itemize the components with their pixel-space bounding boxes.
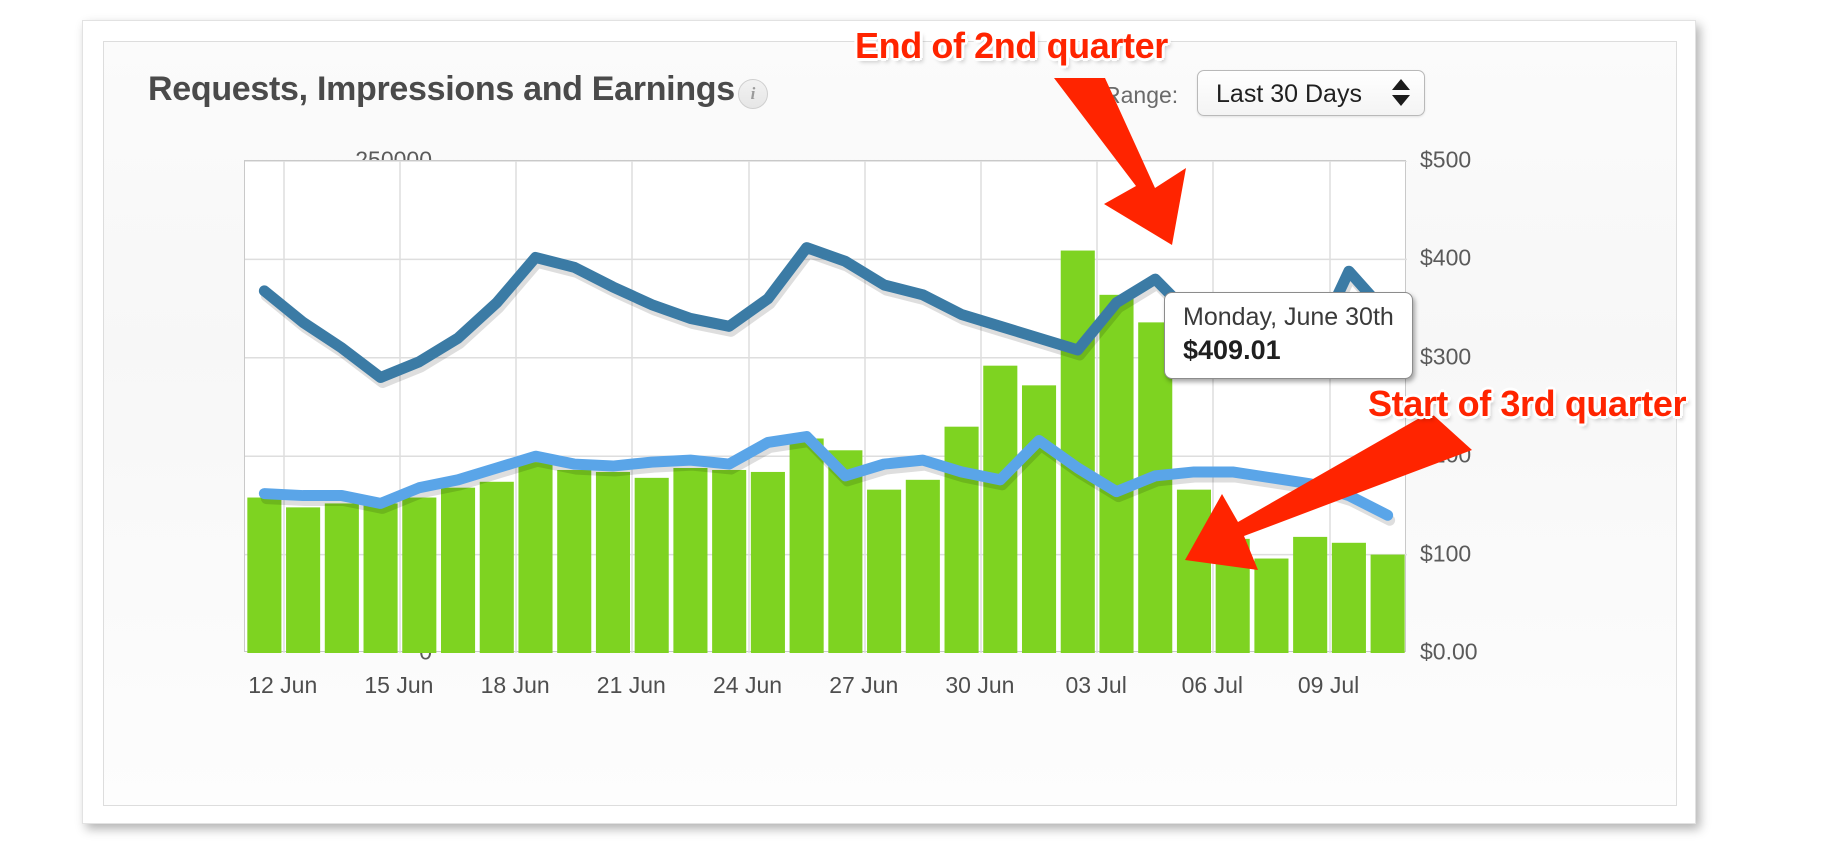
range-select[interactable]: Last 30 Days — [1197, 70, 1425, 116]
x-axis-tick: 15 Jun — [364, 672, 433, 699]
y-axis-right-tick: $200 — [1420, 442, 1471, 469]
plot-area[interactable] — [244, 160, 1406, 652]
y-axis-right-tick: $400 — [1420, 245, 1471, 272]
tooltip-value: $409.01 — [1183, 335, 1394, 366]
screenshot-root: Requests, Impressions and Earnings i Ran… — [0, 0, 1846, 866]
x-axis-tick: 09 Jul — [1298, 672, 1359, 699]
annotation-start-of-3rd-quarter: Start of 3rd quarter — [1368, 383, 1686, 425]
x-axis-tick: 03 Jul — [1065, 672, 1126, 699]
chart-tooltip: Monday, June 30th $409.01 — [1164, 292, 1413, 379]
annotation-end-of-2nd-quarter: End of 2nd quarter — [855, 25, 1168, 67]
x-axis-tick: 06 Jul — [1182, 672, 1243, 699]
info-icon[interactable]: i — [738, 79, 768, 109]
x-axis-tick: 12 Jun — [248, 672, 317, 699]
y-axis-right-tick: $0.00 — [1420, 639, 1478, 666]
y-axis-right-tick: $500 — [1420, 147, 1471, 174]
chart-canvas — [245, 161, 1407, 653]
x-axis-tick: 30 Jun — [945, 672, 1014, 699]
y-axis-right-tick: $300 — [1420, 343, 1471, 370]
range-label: Range: — [1104, 82, 1178, 109]
x-axis-tick: 24 Jun — [713, 672, 782, 699]
stepper-arrows-icon[interactable] — [1392, 79, 1410, 109]
y-axis-right-tick: $100 — [1420, 540, 1471, 567]
x-axis-tick: 18 Jun — [481, 672, 550, 699]
tooltip-date: Monday, June 30th — [1183, 303, 1394, 332]
x-axis-tick: 21 Jun — [597, 672, 666, 699]
range-select-value: Last 30 Days — [1198, 71, 1380, 117]
x-axis-tick: 27 Jun — [829, 672, 898, 699]
page-title: Requests, Impressions and Earnings — [148, 70, 735, 109]
